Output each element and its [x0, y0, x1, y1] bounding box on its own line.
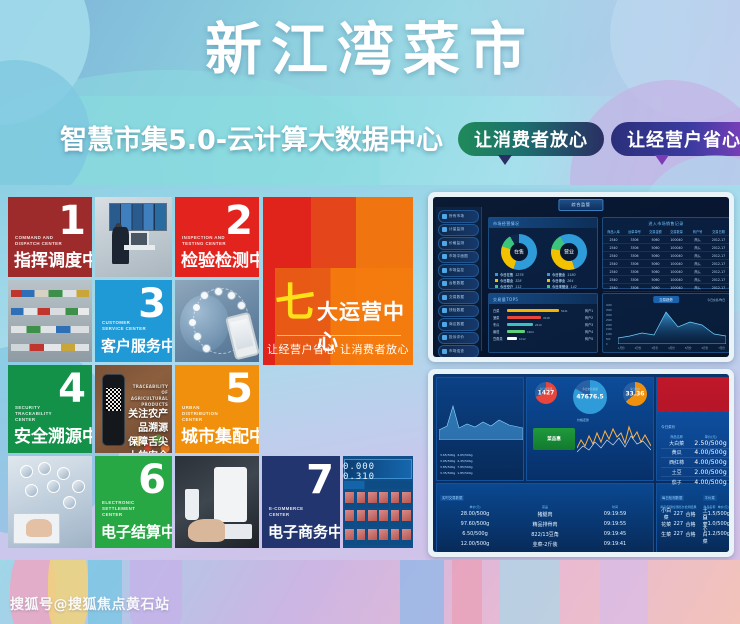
footer-shape-7 [500, 560, 560, 624]
cell: 100040 [666, 278, 687, 282]
price-row: 大白菜 2.50/500g [661, 439, 729, 449]
center-7-number: 7 [306, 460, 334, 500]
top5-rank: 商户3 [585, 322, 593, 327]
table-row: 2540 3306 5060 100040 商ム 2012-17 [603, 276, 729, 284]
price-right: 4.65/500g [457, 453, 472, 457]
top5-bar [507, 316, 541, 319]
col-header: 单价(元) [440, 505, 510, 509]
shelf-row-4 [11, 344, 88, 351]
wall-cell-analytics: 3.65/500g 4.65/500g 3.95/500g 4.45/500g … [436, 377, 524, 481]
legend-label: 今日停业 [552, 278, 565, 283]
left-area-chart [439, 386, 523, 440]
top5-rank: 商户4 [585, 329, 593, 334]
price-board-title: 今日菜价 [661, 425, 675, 429]
donut-chart-open: 营业 [551, 234, 587, 270]
footer-shape-6 [452, 560, 482, 624]
x-tick: 6月份 [702, 346, 709, 350]
cell: 5060 [645, 262, 666, 266]
qr-photo-caption-line2: 保障舌尖上的安全 [125, 436, 168, 453]
db-icon [442, 281, 447, 286]
brand-logo-text: 菜品惠 [547, 436, 561, 442]
left-price-column: 3.65/500g 4.65/500g 3.95/500g 4.45/500g … [440, 452, 520, 476]
trend-y-axis: 4000 3500 3000 2500 2000 1500 1000 500 0 [606, 304, 617, 346]
avatar [38, 462, 51, 475]
price-name: 黄瓜 [661, 449, 692, 456]
hand-graphic [188, 519, 225, 543]
col-header: 商品名称 [661, 434, 692, 439]
sidebar-item-reviews[interactable]: 投诉评价 [438, 332, 479, 345]
sales-records-table: 商品入库 运单单号 交易金额 交易数量 商户号 交易日期 2540 3306 5… [603, 228, 729, 292]
col-header: 商户号 [687, 229, 708, 234]
table-row: 2540 3306 5060 100040 商ム 2012-17 [603, 244, 729, 252]
legend-label: 今日未营业 [552, 284, 568, 289]
x-tick: 7月份 [718, 346, 725, 350]
center-1-number: 1 [58, 201, 86, 241]
cell: 1.2/500g [708, 531, 729, 537]
qr-photo-caption-line1: 关注农产品溯源 [125, 408, 168, 436]
network-node-icon [214, 287, 223, 296]
x-tick: 4月份 [668, 346, 675, 350]
top5-row: 白菜 5241 商户1 [493, 307, 593, 314]
cell: 商ム [687, 277, 708, 282]
table-row: 生菜 227 合格 [660, 529, 697, 539]
top5-row: 豆角类 1012 商户5 [493, 335, 593, 342]
kpi-total-value: 47676.5 [573, 394, 607, 401]
photo-pos-terminal: 0.000 0.310 [343, 456, 413, 548]
x-tick: 1月份 [618, 346, 625, 350]
center-card-5[interactable]: URBAN DISTRIBUTION CENTER 5 城市集配中心 [175, 365, 259, 453]
page-subtitle: 智慧市集5.0-云计算大数据中心 [60, 118, 440, 157]
col-header: 时间 [580, 505, 650, 509]
affordable-title: 平价菜 [703, 495, 717, 501]
price-left: 3.85/500g [440, 465, 455, 469]
cup-graphic [185, 489, 198, 520]
table-row: 97.60/500g 精品排骨肉 09:19:55 [440, 519, 650, 529]
center-card-4[interactable]: SECURITY TRACEABILITY CENTER 4 安全溯源中心 [8, 365, 92, 453]
qr-code-icon [106, 388, 121, 411]
pos-goods-grid [344, 491, 411, 545]
pos-goods-cell [356, 491, 366, 508]
center-4-number: 4 [58, 369, 86, 409]
cell: 100040 [666, 286, 687, 290]
pos-goods-cell [390, 491, 400, 508]
photo-social-network [8, 456, 92, 548]
cell: 3306 [624, 246, 645, 250]
price-value: 4.00/500g [692, 479, 729, 486]
col-header: 单价(元) [716, 505, 729, 509]
hand-graphic [26, 519, 51, 537]
center-card-1[interactable]: COMMAND AND DISPATCH CENTER 1 指挥调度中心 [8, 197, 92, 277]
cell: 合格 [684, 531, 696, 538]
operator-desk-graphic [124, 245, 155, 250]
footer-shape-5 [400, 560, 444, 624]
top5-bar [507, 309, 559, 312]
shelf-row-1 [11, 290, 88, 297]
legend-value: 1276 [515, 273, 523, 277]
sidebar-item-floorplan[interactable]: 市场平面图 [438, 251, 479, 264]
col-header: 检测批次 [672, 505, 684, 509]
top5-value: 2610 [535, 323, 542, 327]
legend-label: 今日在售 [500, 272, 513, 277]
pos-goods-cell [401, 528, 411, 545]
cell: 09:19:55 [580, 521, 650, 527]
seven-slogan: 让经营户省心 让消费者放心 [263, 341, 413, 357]
cell: 3306 [624, 270, 645, 274]
price-name: 土豆 [661, 469, 692, 476]
center-card-3[interactable]: CUSTOMER SERVICE CENTER 3 客户服务中心 [95, 280, 172, 362]
legend-value: 112 [515, 285, 521, 289]
price-row: 土豆 2.00/500g [661, 468, 729, 478]
footer-shape-3 [88, 560, 122, 624]
y-tick: 1000 [606, 333, 617, 336]
legend-label: 今日营业 [552, 272, 565, 277]
cell: 227 [672, 531, 684, 537]
top5-name: 番茄 [493, 329, 505, 334]
price-name: 茄子 [661, 479, 692, 486]
cell: 227 [672, 511, 684, 517]
x-tick: 5月份 [685, 346, 692, 350]
grid-icon [442, 214, 447, 219]
cell: 2012-17 [708, 254, 729, 258]
legend-swatch-icon [547, 279, 550, 282]
sidebar-label: 价格监测 [449, 241, 464, 246]
cell: 2540 [603, 270, 624, 274]
pos-goods-cell [390, 528, 400, 545]
monitor-icon [442, 268, 447, 273]
cell: 09:19:45 [580, 531, 650, 537]
scale-icon [442, 227, 447, 232]
poster-footer [0, 560, 740, 624]
center-5-name: 城市集配中心 [181, 422, 259, 447]
pos-goods-cell [356, 509, 366, 526]
trend-area-chart [618, 306, 726, 344]
sidebar-label: 市场巡查 [449, 349, 464, 354]
pos-goods-cell [344, 509, 354, 526]
top5-name: 白菜 [493, 308, 505, 313]
cell: 5060 [645, 270, 666, 274]
detect-table: 每日检测数据 商品名称 检测批次 检测结果 小白菜 227 合格 花菜 [657, 484, 700, 552]
footer-shape-2 [48, 560, 88, 624]
shelf-row-3 [11, 326, 88, 333]
legend-swatch-icon [547, 273, 550, 276]
price-row: 西红柿 4.00/500g [661, 458, 729, 468]
chart-icon [442, 254, 447, 259]
legend-item: 今日停业 264 [547, 278, 573, 283]
badge-merchant-label: 让经营户省心 [627, 126, 740, 152]
network-node-icon [192, 303, 201, 312]
x-tick: 2月份 [635, 346, 642, 350]
price-trend-chart [577, 424, 651, 460]
top5-name: 豆角类 [493, 336, 505, 341]
legend-swatch-icon [495, 279, 498, 282]
inspect-icon [442, 349, 447, 354]
cell: 3306 [624, 286, 645, 290]
table-row: 2540 3306 5060 100040 商ム 2012-17 [603, 252, 729, 260]
top5-value: 3318 [543, 316, 550, 320]
cell: 100040 [666, 270, 687, 274]
cell: 1.0/500g [708, 521, 729, 527]
cell: 2012-17 [708, 262, 729, 266]
top5-value: 1012 [519, 337, 526, 341]
table-row: 2540 3306 5060 100040 商ム 2012-17 [603, 284, 729, 292]
avatar [47, 480, 60, 493]
page-title: 新江湾菜市 [0, 16, 740, 84]
y-tick: 2500 [606, 319, 617, 322]
cell: 合格 [684, 511, 696, 518]
col-header: 商品入库 [603, 229, 624, 234]
badge-consumer-label: 让消费者放心 [474, 126, 588, 152]
sidebar-item-ledger[interactable]: 台账数据 [438, 278, 479, 291]
wall-cell-detection: 每日检测数据 商品名称 检测批次 检测结果 小白菜 227 合格 花菜 [656, 483, 729, 552]
cell: 100040 [666, 262, 687, 266]
center-card-6[interactable]: ELECTRONIC SETTLEMENT CENTER 6 电子结算中心 [95, 456, 172, 548]
sidebar-item-merchant-data[interactable]: 商议数据 [438, 318, 479, 331]
y-tick: 3500 [606, 309, 617, 312]
legend-value: 142 [570, 285, 576, 289]
center-4-name: 安全溯源中心 [14, 422, 92, 447]
pos-goods-cell [378, 491, 388, 508]
sidebar-item-quicktest[interactable]: 快检数据 [438, 305, 479, 318]
kpi-total-caption: 今日交易总额 [573, 387, 607, 391]
legend-value: 264 [567, 279, 573, 283]
table-header-row: 商品入库 运单单号 交易金额 交易数量 商户号 交易日期 [603, 228, 729, 236]
sidebar-item-price[interactable]: 价格监测 [438, 237, 479, 250]
poster-root: 新江湾菜市 智慧市集5.0-云计算大数据中心 让消费者放心 让经营户省心 COM… [0, 0, 740, 624]
kpi-avg-price: 今日均价 33.36 [623, 382, 647, 406]
avatar [72, 480, 85, 493]
kpi-avg-value: 33.36 [623, 391, 647, 398]
sidebar-label: 交易数据 [449, 295, 464, 300]
legend-item: 今日空户 112 [495, 284, 521, 289]
sidebar-label: 市场平面图 [449, 254, 468, 259]
pos-tab-strip [344, 481, 411, 489]
dashboard-main-area: 市场经营情况 在售 营业 今日在售 1276 今日歇业 [486, 209, 725, 351]
y-tick: 500 [606, 338, 617, 341]
cell: 5060 [645, 238, 666, 242]
trend-x-axis: 1月份 2月份 3月份 4月份 5月份 6月份 7月份 [618, 346, 725, 350]
y-tick: 0 [606, 343, 617, 346]
seven-centers-panel: 七 大运营中心 让经营户省心 让消费者放心 [263, 197, 413, 365]
table-row: 2540 3306 5060 100040 商ム 2012-17 [603, 236, 729, 244]
y-tick: 2000 [606, 324, 617, 327]
col-header: 交易日期 [708, 229, 729, 234]
top5-name: 冬瓜 [493, 322, 505, 327]
pos-goods-cell [378, 528, 388, 545]
dashboard-screen-videowall: 3.65/500g 4.65/500g 3.95/500g 4.45/500g … [433, 374, 729, 552]
seven-number: 七 [275, 283, 315, 323]
price-value: 4.00/500g [692, 459, 729, 466]
cell: 2540 [603, 246, 624, 250]
cell: 精品排骨肉 [510, 521, 580, 528]
y-tick: 3000 [606, 314, 617, 317]
cell: 合格 [684, 521, 696, 528]
pos-goods-cell [401, 491, 411, 508]
sidebar-item-metering[interactable]: 计量监测 [438, 224, 479, 237]
table-row: 28.00/500g 猪腿肉 09:19:59 [440, 509, 650, 519]
photo-market-shelves [8, 280, 92, 362]
pos-goods-cell [367, 528, 377, 545]
price-trend-title: 价格走势 [577, 418, 589, 422]
today-price-board: 今日菜价 商品名称 单价(元) 大白菜 2.50/500g 黄瓜 4.00/50… [657, 412, 729, 480]
review-icon [442, 335, 447, 340]
cell: 2012-17 [708, 246, 729, 250]
cell: 2540 [603, 262, 624, 266]
sidebar-item-all-markets[interactable]: 所有市场 [438, 210, 479, 223]
top5-name: 菠菜 [493, 315, 505, 320]
deal-icon [442, 295, 447, 300]
transaction-trend-card: 交易趋势 今日交易/昨日 4000 3500 3000 2500 2000 15… [602, 293, 729, 353]
cell: 商ム [687, 237, 708, 242]
top5-bar [507, 323, 533, 326]
center-3-number: 3 [138, 284, 166, 324]
cell: 28.00/500g [440, 511, 510, 517]
table-row: 小白菜 227 合格 [660, 509, 697, 519]
top5-rank: 商户1 [585, 308, 593, 313]
sidebar-item-inspection[interactable]: 市场巡查 [438, 345, 479, 357]
legend-swatch-icon [495, 285, 498, 288]
badge-merchant: 让经营户省心 [611, 122, 740, 156]
photo-command-room [95, 197, 172, 277]
cell: 2540 [603, 238, 624, 242]
center-3-name: 客户服务中心 [101, 335, 172, 356]
sales-records-card: 进入市场销售记录 商品入库 运单单号 交易金额 交易数量 商户号 交易日期 25… [602, 217, 729, 289]
center-7-name: 电子商务中心 [268, 521, 340, 542]
cell: 09:19:59 [580, 511, 650, 517]
footer-shape-4 [130, 560, 182, 624]
dashboard-panel-top: 综合监管 所有市场 计量监测 价格监测 市场平面图 [428, 192, 734, 362]
legend-item: 今日歇业 328 [495, 278, 521, 283]
price-icon [442, 241, 447, 246]
legend-value: 1180 [567, 273, 575, 277]
col-header: 交易金额 [645, 229, 666, 234]
legend-label: 今日空户 [500, 284, 513, 289]
x-tick: 3月份 [651, 346, 658, 350]
sidebar-item-transactions[interactable]: 交易数据 [438, 291, 479, 304]
detect-title: 每日检测数据 [660, 495, 684, 501]
col-header: 单价(元) [692, 434, 729, 439]
cell: 生菜 [660, 531, 672, 538]
legend-item: 今日在售 1276 [495, 272, 524, 277]
donut-left-center-label: 在售 [501, 249, 537, 256]
price-left: 3.95/500g [440, 459, 455, 463]
network-node-icon [237, 301, 246, 310]
top5-bar-list: 白菜 5241 商户1 菠菜 3318 商户2 冬瓜 [493, 307, 593, 342]
col-header: 菜品 [510, 505, 580, 509]
market-operation-card: 市场经营情况 在售 营业 今日在售 1276 今日歇业 [488, 217, 598, 289]
cell: 2540 [603, 254, 624, 258]
price-row: 茄子 4.00/500g [661, 477, 729, 487]
trade-log-title: 实时交易数据 [440, 495, 464, 501]
cell: 100040 [666, 254, 687, 258]
center-6-number: 6 [138, 460, 166, 500]
price-value: 4.00/500g [692, 449, 729, 456]
sidebar-label: 台账数据 [449, 281, 464, 286]
pos-goods-cell [378, 509, 388, 526]
sidebar-item-monitor[interactable]: 市场监控 [438, 264, 479, 277]
wall-cell-kpi-trend: 今日客流量 1427 今日交易总额 47676.5 今日均价 33.36 菜品惠 [526, 377, 654, 481]
price-right: 1.85/500g [457, 471, 472, 475]
sales-records-title: 进入市场销售记录 [603, 221, 729, 227]
avatar [25, 484, 38, 497]
legend-item: 今日未营业 142 [547, 284, 577, 289]
cell: 5060 [645, 246, 666, 250]
sidebar-label: 商议数据 [449, 322, 464, 327]
affordable-veg-table: 平价菜 商品名称 单价(元) 土豆 1.5/500g 白萝卜 1.0/500g [700, 484, 729, 552]
top5-value: 5241 [561, 309, 568, 313]
pos-weight-value: 0.000 [343, 462, 375, 472]
market-operation-title: 市场经营情况 [493, 221, 519, 227]
check-icon [442, 308, 447, 313]
y-tick: 4000 [606, 304, 617, 307]
kpi-footfall-value: 1427 [535, 390, 557, 397]
center-card-7[interactable]: E-COMMERCE CENTER 7 电子商务中心 [262, 456, 340, 548]
smartphone-graphic [225, 312, 259, 361]
center-7-en: E-COMMERCE CENTER [269, 506, 316, 518]
avatar [20, 465, 33, 478]
pos-goods-cell [390, 509, 400, 526]
user-icon [442, 322, 447, 327]
cell: 100040 [666, 238, 687, 242]
price-board-inner: 今日菜价 商品名称 单价(元) 大白菜 2.50/500g 黄瓜 4.00/50… [657, 412, 729, 480]
dashboard-panel-bottom: 3.65/500g 4.65/500g 3.95/500g 4.45/500g … [428, 369, 734, 557]
table-row: 12.00/500g 韭菜-2斤装 09:19:41 [440, 539, 650, 549]
table-row: 2540 3306 5060 100040 商ム 2012-17 [603, 268, 729, 276]
cell: 花菜 [660, 521, 672, 528]
photo-smart-scale [175, 456, 259, 548]
seven-divider [277, 335, 401, 336]
top5-rank: 商户5 [585, 336, 593, 341]
trend-legend: 今日交易/昨日 [707, 298, 725, 302]
avatar [63, 496, 76, 509]
scale-body-graphic [214, 467, 248, 522]
price-right: 7.85/500g [457, 465, 472, 469]
qr-photo-caption-en: TRACEABILITY OF AGRICULTURAL PRODUCTS [125, 384, 168, 408]
pos-goods-cell [367, 509, 377, 526]
price-value: 2.00/500g [692, 469, 729, 476]
cell: 12.00/500g [440, 541, 510, 547]
col-header: 交易数量 [666, 229, 687, 234]
cell: 5060 [645, 254, 666, 258]
pos-goods-cell [344, 491, 354, 508]
price-name: 西红柿 [661, 459, 692, 466]
cell: 2540 [603, 286, 624, 290]
legend-value: 328 [515, 279, 521, 283]
pos-goods-cell [367, 491, 377, 508]
cell: 2012-17 [708, 286, 729, 290]
kpi-total-amount: 今日交易总额 47676.5 [573, 380, 607, 414]
table-row: 花菜 227 合格 [660, 519, 697, 529]
price-left: 3.65/500g [440, 453, 455, 457]
sidebar-label: 所有市场 [449, 214, 464, 219]
avatar [57, 467, 70, 480]
price-left: 3.35/500g [440, 471, 455, 475]
col-header: 检测结果 [684, 505, 696, 509]
top5-row: 菠菜 3318 商户2 [493, 314, 593, 321]
table-header-row: 单价(元) 菜品 时间 [440, 505, 650, 509]
cell: 商ム [687, 285, 708, 290]
legend-swatch-icon [495, 273, 498, 276]
trend-title: 交易趋势 [653, 296, 679, 303]
cell: 5060 [645, 286, 666, 290]
qr-photo-caption: TRACEABILITY OF AGRICULTURAL PRODUCTS 关注… [125, 384, 168, 453]
sidebar-label: 快检数据 [449, 308, 464, 313]
cell: 小白菜 [660, 507, 672, 521]
center-card-2[interactable]: INSPECTION AND TESTING CENTER 2 检验检测中心 [175, 197, 259, 277]
trade-log-table: 实时交易数据 单价(元) 菜品 时间 28.00/500g 猪腿肉 09:19:… [437, 484, 653, 552]
sidebar-label: 市场监控 [449, 268, 464, 273]
price-right: 4.45/500g [457, 459, 472, 463]
cell: 商ム [687, 269, 708, 274]
